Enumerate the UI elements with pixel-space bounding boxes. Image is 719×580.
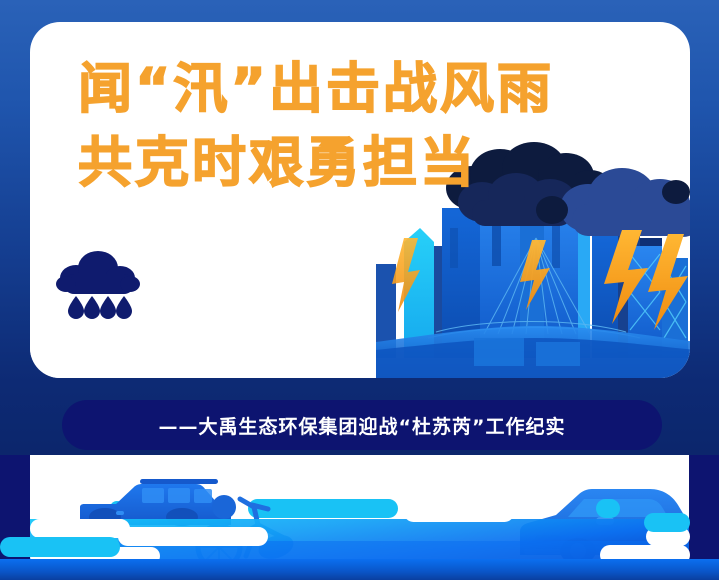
subtitle-banner: ——大禹生态环保集团迎战“杜苏芮”工作纪实: [62, 400, 662, 450]
title-block: 闻“汛”出击战风雨 共克时艰勇担当: [78, 52, 618, 200]
title-line-2: 共克时艰勇担当: [78, 126, 618, 200]
poster-canvas: 闻“汛”出击战风雨 共克时艰勇担当: [0, 0, 719, 580]
subtitle-text: ——大禹生态环保集团迎战“杜苏芮”工作纪实: [159, 412, 566, 439]
rain-cloud-icon: [42, 248, 152, 320]
raindrop-group: [68, 296, 132, 319]
bottom-water-strip: [0, 559, 719, 580]
title-line-1: 闻“汛”出击战风雨: [78, 52, 618, 126]
title-card: 闻“汛”出击战风雨 共克时艰勇担当: [30, 22, 690, 378]
flood-scene: [0, 455, 719, 580]
suv-vehicle: [80, 479, 236, 526]
